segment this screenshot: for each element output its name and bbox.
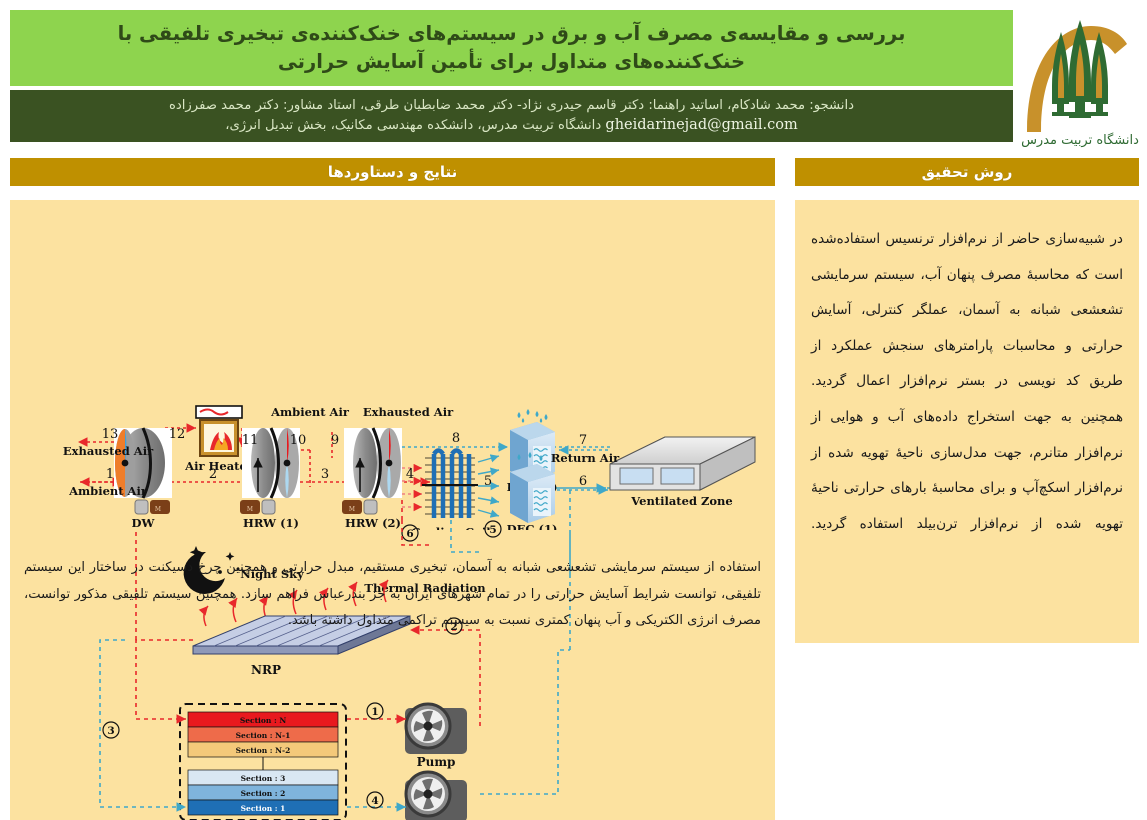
tarbiat-modares-logo-icon: دانشگاه تربیت مدرس: [1013, 4, 1147, 154]
schematic-svg: M DW Air Heater: [10, 200, 775, 578]
label-hrw2: HRW (2): [345, 516, 401, 530]
label-pump-1: Pump: [417, 755, 456, 769]
affiliation-text: دانشگاه تربیت مدرس، دانشکده مهندسی مکانی…: [225, 118, 601, 133]
contact-email[interactable]: gheidarinejad@gmail.com: [605, 117, 797, 133]
svg-text:M: M: [247, 506, 253, 513]
poster-title-line-2: خنک‌کننده‌های متداول برای تأمین آسایش حر…: [118, 48, 906, 76]
label-hrw1: HRW (1): [243, 516, 299, 530]
poster-root: بررسی و مقایسه‌ی مصرف آب و برق در سیستم‌…: [0, 0, 1147, 649]
section-title-method: روش تحقیق: [922, 163, 1013, 181]
method-panel: در شبیه‌سازی حاضر از نرم‌افزار ترنسیس اس…: [795, 200, 1139, 643]
method-body-text: در شبیه‌سازی حاضر از نرم‌افزار ترنسیس اس…: [811, 222, 1123, 542]
poster-title-band: بررسی و مقایسه‌ی مصرف آب و برق در سیستم‌…: [10, 10, 1013, 86]
authors-line: دانشجو: محمد شادکام، اساتید راهنما: دکتر…: [169, 96, 854, 115]
circled-number: 4: [371, 795, 378, 807]
svg-text:M: M: [155, 506, 161, 513]
sst-section-label: Section : 2: [241, 789, 286, 798]
university-logo: دانشگاه تربیت مدرس: [1013, 4, 1147, 154]
circled-number: 1: [371, 706, 378, 718]
poster-title: بررسی و مقایسه‌ی مصرف آب و برق در سیستم‌…: [118, 20, 906, 75]
label-ventilated-zone: Ventilated Zone: [630, 494, 732, 508]
section-bar-results: نتایج و دستاوردها: [10, 158, 775, 186]
section-title-results: نتایج و دستاوردها: [328, 163, 458, 181]
label-nrp: NRP: [251, 663, 281, 677]
circled-number: 3: [107, 725, 114, 737]
poster-title-line-1: بررسی و مقایسه‌ی مصرف آب و برق در سیستم‌…: [118, 20, 906, 48]
affiliation-line: gheidarinejad@gmail.com دانشگاه تربیت مد…: [225, 115, 798, 136]
poster-authors-band: دانشجو: محمد شادکام، اساتید راهنما: دکتر…: [10, 90, 1013, 142]
svg-text:M: M: [349, 506, 355, 513]
sst-section-label: Section : N-1: [236, 731, 291, 740]
label-dw: DW: [132, 516, 156, 530]
sst-section-label: Section : 3: [241, 774, 286, 783]
results-caption: استفاده از سیستم سرمایشی تشعشعی شبانه به…: [24, 555, 761, 635]
system-schematic-diagram: M DW Air Heater: [10, 200, 775, 578]
section-bar-method: روش تحقیق: [795, 158, 1139, 186]
component-pump-1: [405, 704, 467, 754]
sst-section-label: Section : 1: [241, 804, 286, 813]
sst-section-label: Section : N: [240, 716, 287, 725]
sst-section-label: Section : N-2: [236, 746, 291, 755]
logo-caption: دانشگاه تربیت مدرس: [1021, 132, 1139, 148]
results-panel: M DW Air Heater: [10, 200, 775, 643]
